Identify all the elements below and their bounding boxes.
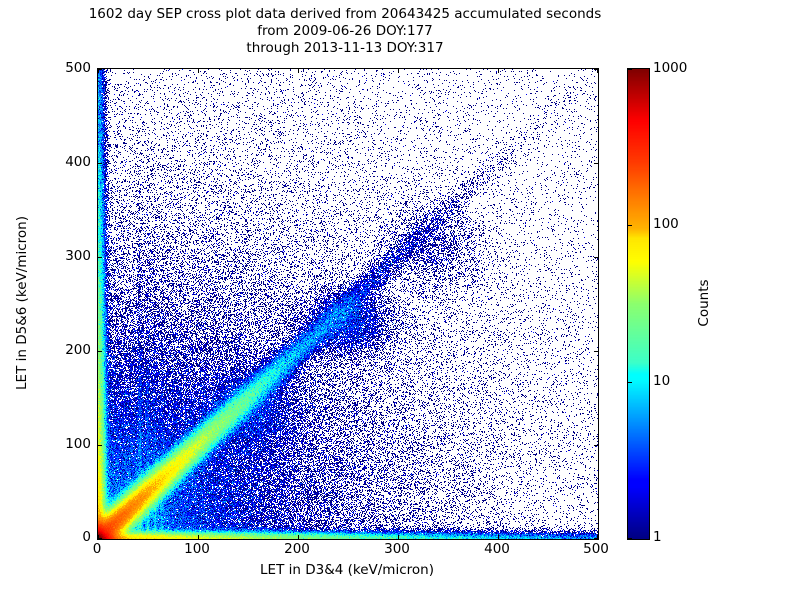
x-tick-mark: [398, 535, 399, 539]
y-tick-mark: [98, 351, 102, 352]
y-tick-mark: [98, 257, 102, 258]
colorbar-tick-mark: [628, 382, 632, 383]
x-tick-mark: [198, 69, 199, 73]
x-tick-mark: [398, 69, 399, 73]
y-tick-label: 200: [65, 342, 91, 358]
x-tick-label: 0: [93, 541, 102, 557]
colorbar-tick-mark: [628, 69, 632, 70]
figure-canvas: 1602 day SEP cross plot data derived fro…: [0, 0, 800, 600]
density-heatmap: [98, 69, 598, 539]
y-tick-mark: [98, 538, 102, 539]
y-tick-mark: [98, 163, 102, 164]
colorbar-tick-label: 1000: [653, 60, 687, 76]
x-tick-label: 100: [184, 541, 210, 557]
y-tick-label: 300: [65, 248, 91, 264]
x-tick-label: 500: [583, 541, 609, 557]
x-tick-mark: [498, 69, 499, 73]
plot-area: [97, 68, 599, 540]
x-tick-label: 300: [384, 541, 410, 557]
x-tick-label: 400: [484, 541, 510, 557]
colorbar-tick-label: 1: [653, 529, 662, 545]
y-tick-mark: [98, 69, 102, 70]
colorbar-label: Counts: [696, 203, 712, 403]
y-tick-label: 400: [65, 154, 91, 170]
colorbar-tick-mark: [628, 538, 632, 539]
y-tick-mark: [594, 445, 598, 446]
y-tick-mark: [98, 445, 102, 446]
y-tick-mark: [594, 257, 598, 258]
x-axis-label: LET in D3&4 (keV/micron): [97, 562, 597, 578]
x-tick-mark: [498, 535, 499, 539]
y-tick-mark: [594, 69, 598, 70]
plot-title-line-1: 1602 day SEP cross plot data derived fro…: [0, 6, 690, 23]
x-tick-mark: [198, 535, 199, 539]
plot-title: 1602 day SEP cross plot data derived fro…: [0, 6, 690, 57]
y-axis-label: LET in D5&6 (keV/micron): [14, 203, 30, 403]
x-tick-mark: [298, 69, 299, 73]
y-tick-label: 0: [82, 529, 91, 545]
plot-title-line-2: from 2009-06-26 DOY:177: [0, 23, 690, 40]
colorbar-gradient: [628, 69, 649, 539]
colorbar-tick-mark: [628, 225, 632, 226]
colorbar-tick-label: 10: [653, 373, 670, 389]
y-tick-label: 500: [65, 60, 91, 76]
x-tick-mark: [298, 535, 299, 539]
y-tick-mark: [594, 163, 598, 164]
y-tick-label: 100: [65, 436, 91, 452]
y-tick-mark: [594, 351, 598, 352]
x-tick-label: 200: [284, 541, 310, 557]
plot-title-line-3: through 2013-11-13 DOY:317: [0, 40, 690, 57]
colorbar: [627, 68, 650, 540]
y-tick-mark: [594, 538, 598, 539]
colorbar-tick-label: 100: [653, 216, 679, 232]
